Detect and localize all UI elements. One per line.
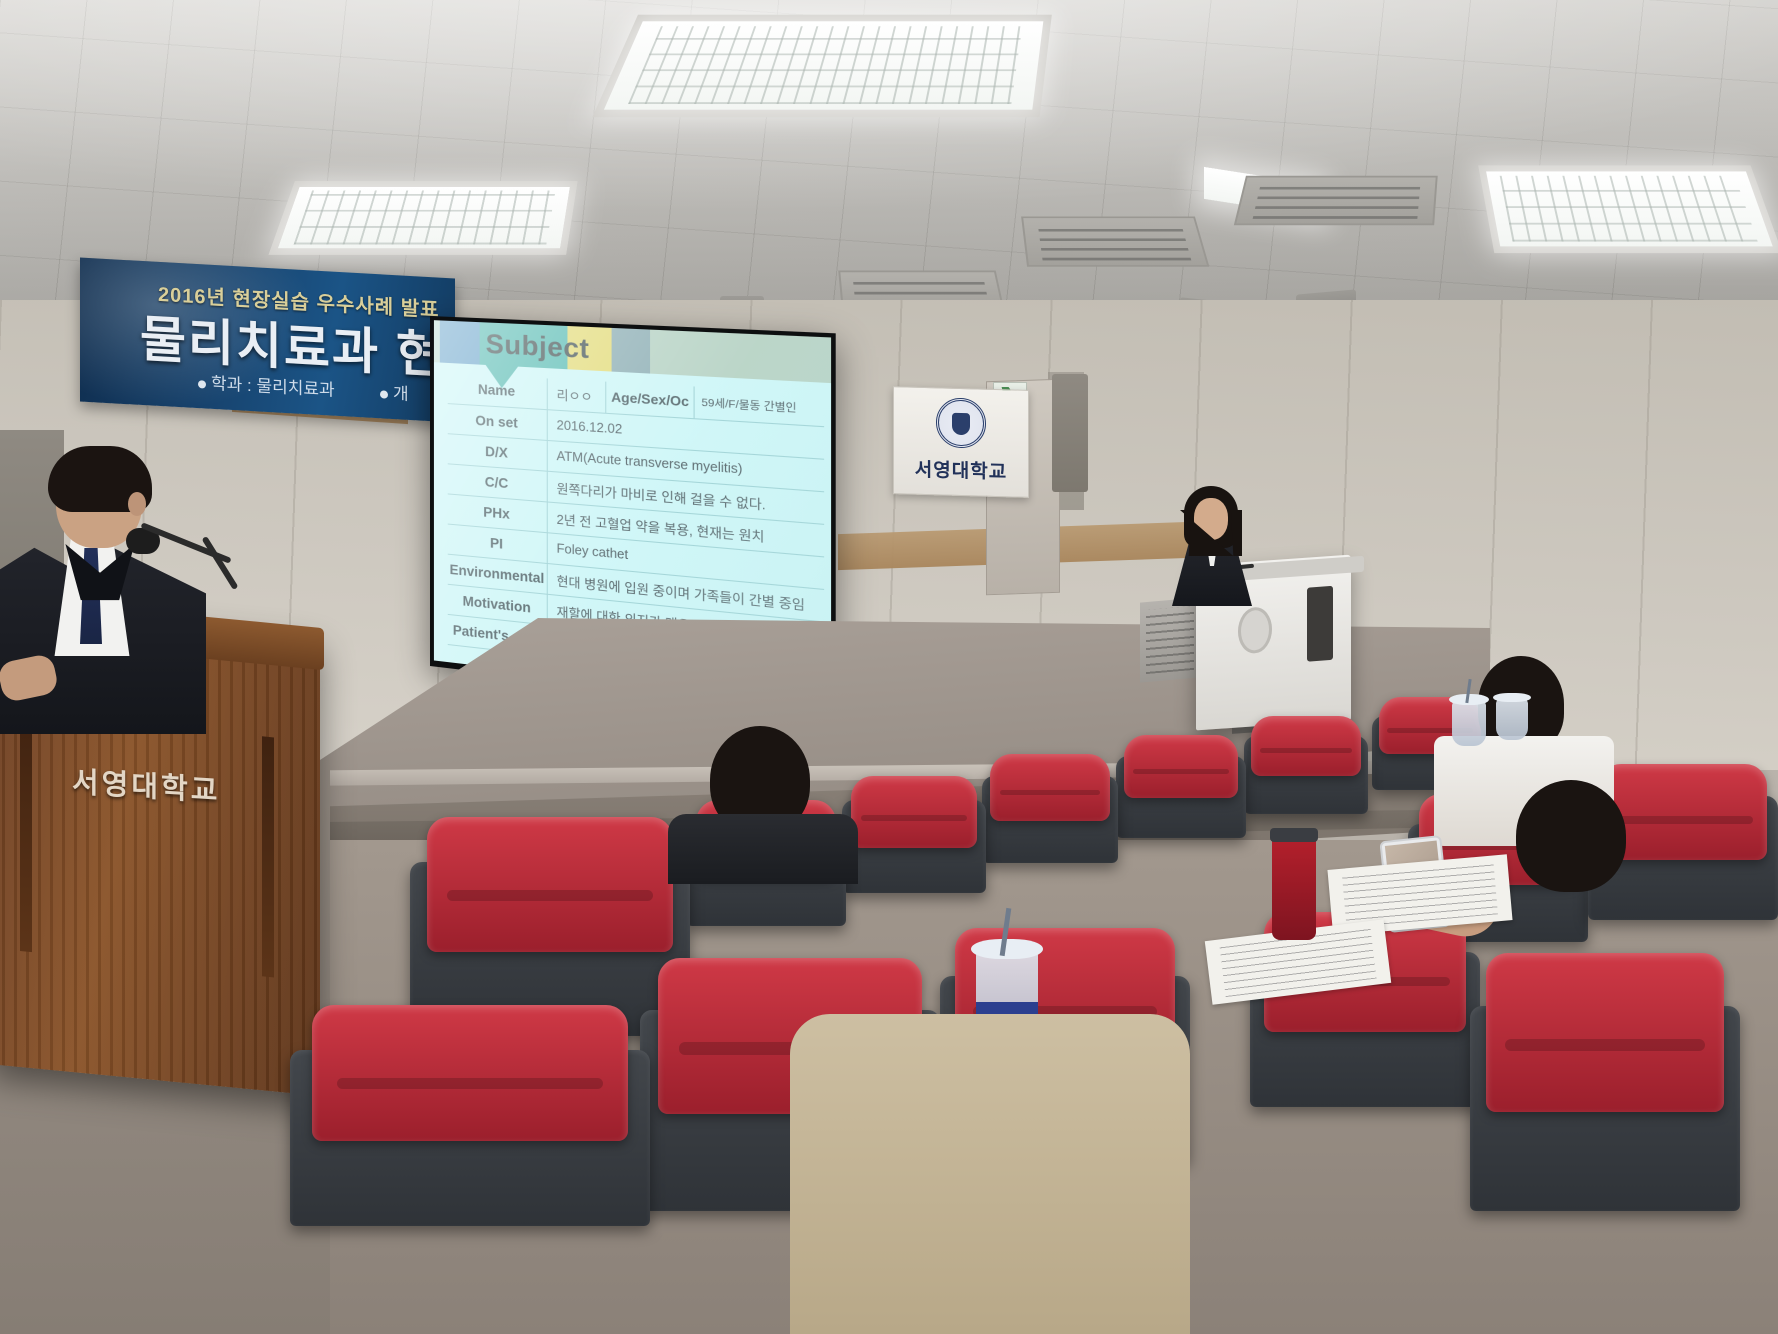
header-block-5 <box>650 330 831 384</box>
ceiling-light-2 <box>278 187 570 248</box>
university-emblem-icon <box>936 397 986 448</box>
lectern-panel-dark <box>1307 586 1333 662</box>
vent-slats-icon <box>1253 182 1420 219</box>
auditorium-seat[interactable] <box>982 776 1118 916</box>
header-block-1 <box>440 320 480 364</box>
wall-speaker-box <box>1052 374 1088 492</box>
banner-line2-text: 개 <box>393 384 409 404</box>
ceiling-light-1 <box>604 21 1043 109</box>
podium-inlay-left <box>20 701 32 952</box>
cup-body <box>1496 698 1528 740</box>
clear-cup[interactable] <box>1452 700 1486 746</box>
lectern-cutout <box>1238 606 1272 654</box>
podium-plaque-text: 서영대학교 <box>72 759 220 810</box>
seat-headrest-cushion <box>990 754 1110 821</box>
seat-headrest-cushion <box>1486 953 1724 1111</box>
light-grille-icon <box>1500 176 1758 242</box>
equipment-rack <box>1140 597 1200 682</box>
auditorium-seat[interactable] <box>1470 1006 1740 1334</box>
light-grille-icon <box>293 191 555 245</box>
seat-headrest-cushion <box>427 817 673 951</box>
presenter-speaking <box>0 452 210 712</box>
air-vent-3 <box>1234 176 1438 225</box>
event-banner: 2016년 현장실습 우수사례 발표 물리치료과 현 학과 : 물리치료과 개 <box>80 258 455 423</box>
auditorium-seat[interactable] <box>290 1050 650 1334</box>
presenter-ear <box>128 492 146 516</box>
travel-tumbler[interactable] <box>1272 836 1316 940</box>
lecture-hall-photo: 2016년 현장실습 우수사례 발표 물리치료과 현 학과 : 물리치료과 개 … <box>0 0 1778 1334</box>
light-fixture-frame-3 <box>1478 165 1778 253</box>
seat-headrest-cushion <box>851 776 978 848</box>
banner-extra-line: 개 <box>380 378 409 405</box>
light-fixture-frame-2 <box>268 181 577 255</box>
seat-headrest-cushion <box>312 1005 629 1141</box>
bullet-dot-icon <box>380 390 388 398</box>
coat-on-seat <box>790 1014 1190 1334</box>
row-value: 리ㅇㅇ <box>547 378 606 412</box>
cup-body <box>1452 700 1486 746</box>
university-wall-sign: 서영대학교 <box>893 386 1029 498</box>
ceiling-light-3 <box>1486 171 1773 246</box>
light-fixture-frame-1 <box>592 15 1052 118</box>
air-vent-1 <box>1021 216 1209 266</box>
clear-cup[interactable] <box>1496 698 1528 740</box>
light-grille-icon <box>628 26 1023 104</box>
cup-lid <box>971 939 1043 959</box>
audience-member-shoulders <box>668 814 858 884</box>
auditorium-seat[interactable] <box>842 800 986 950</box>
seat-headrest-cushion <box>1251 716 1360 776</box>
university-sign-text: 서영대학교 <box>894 454 1028 485</box>
rack-vent-slats-icon <box>1146 606 1194 674</box>
podium-inlay-right <box>262 736 274 977</box>
vent-slats-icon <box>1037 223 1191 260</box>
seat-headrest-cushion <box>1124 735 1238 798</box>
paper-text-lines <box>1342 862 1497 928</box>
auditorium-seat[interactable] <box>1116 756 1246 888</box>
bullet-dot-icon <box>198 380 206 388</box>
header-block-4 <box>612 328 650 374</box>
cup-lid <box>1493 693 1530 702</box>
second-presenter <box>1168 486 1254 604</box>
slide-title: Subject <box>486 328 590 365</box>
audience-member-head <box>1516 780 1626 892</box>
tumbler-lid <box>1270 828 1318 843</box>
